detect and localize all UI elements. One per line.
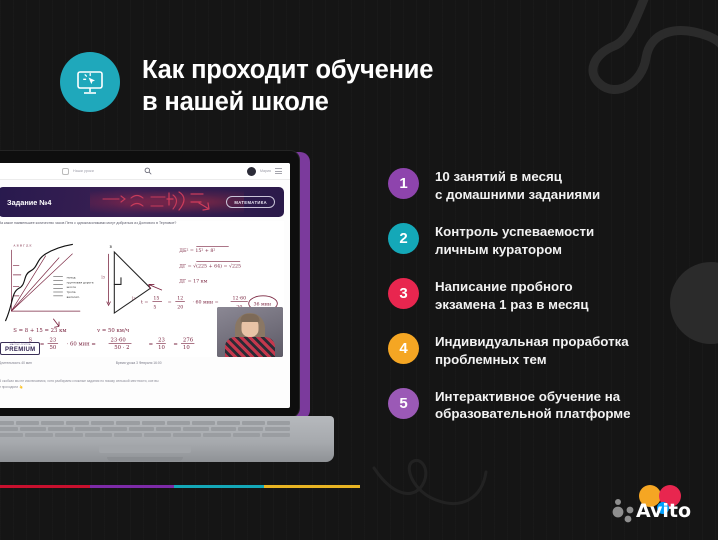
feature-list: 1 10 занятий в месяц с домашними задания… <box>388 166 688 423</box>
svg-text:поезд: поезд <box>67 276 76 280</box>
svg-text:=: = <box>149 341 153 347</box>
app-brand-label: Наши уроки <box>73 169 94 173</box>
hamburger-menu-icon[interactable] <box>275 168 282 173</box>
list-item-badge-1: 1 <box>388 168 419 199</box>
laptop-lid: Наши уроки Мария <box>0 150 300 418</box>
svg-text:=: = <box>40 341 44 347</box>
svg-text:23: 23 <box>49 338 56 344</box>
lesson-comment: В скобках мы не исключаемся, хотя разбир… <box>0 379 283 390</box>
svg-text:S = 8 + 15 = 23 км: S = 8 + 15 = 23 км <box>13 328 66 334</box>
lesson-title: Задание №4 <box>7 198 52 207</box>
app-user-area[interactable]: Мария <box>247 167 282 176</box>
laptop-trackpad <box>99 445 191 453</box>
app-logo-icon <box>62 168 69 175</box>
svg-text:23: 23 <box>158 338 165 344</box>
list-item: 4 Индивидуальная проработка проблемных т… <box>388 331 688 369</box>
list-item: 1 10 занятий в месяц с домашними задания… <box>388 166 688 204</box>
list-item: 3 Написание пробного экзамена 1 раз в ме… <box>388 276 688 314</box>
subject-badge: МАТЕМАТИКА <box>226 196 275 208</box>
svg-text:· 60 мин =: · 60 мин = <box>192 299 218 305</box>
premium-badge: МАСТЕР-ГРУППА PREMIUM <box>0 342 40 355</box>
list-item-text-2: Контроль успеваемости личным куратором <box>435 221 594 259</box>
tutor-fringe <box>241 314 260 322</box>
list-item-badge-4: 4 <box>388 333 419 364</box>
list-item: 2 Контроль успеваемости личным куратором <box>388 221 688 259</box>
squiggle-loop-icon <box>584 0 718 112</box>
lesson-time: Время урока 3 Февраля 16:00 <box>116 361 162 365</box>
squiggle-loop-icon <box>370 442 500 512</box>
strip-segment-3 <box>174 485 264 488</box>
svg-text:А Б В Г Д Е: А Б В Г Д Е <box>13 243 31 247</box>
header: Как проходит обучение в нашей школе <box>60 52 433 118</box>
strip-segment-1 <box>0 485 90 488</box>
svg-text:15: 15 <box>101 276 105 280</box>
svg-text:=: = <box>173 341 177 347</box>
list-item-text-5: Интерактивное обучение на образовательно… <box>435 386 631 424</box>
laptop-base-notch <box>107 457 183 461</box>
app-topbar: Наши уроки Мария <box>0 163 290 180</box>
tutor-body <box>225 337 275 357</box>
list-item-text-1: 10 занятий в месяц с домашними заданиями <box>435 166 600 204</box>
list-item-text-4: Индивидуальная проработка проблемных тем <box>435 331 629 369</box>
svg-text:20: 20 <box>177 304 183 310</box>
color-strip <box>0 485 360 488</box>
svg-text:ДГ = √(225 + 64) = √225: ДГ = √(225 + 64) = √225 <box>179 262 241 269</box>
search-icon[interactable] <box>144 163 152 180</box>
avatar[interactable] <box>247 167 256 176</box>
svg-text:шоссе: шоссе <box>67 285 77 289</box>
svg-text:23·60: 23·60 <box>110 338 126 344</box>
svg-text:5: 5 <box>153 304 156 310</box>
slide-canvas: Как проходит обучение в нашей школе 1 10… <box>0 0 718 540</box>
list-item-badge-5: 5 <box>388 388 419 419</box>
svg-text:12: 12 <box>177 296 183 302</box>
svg-text:тропа: тропа <box>67 290 76 294</box>
user-label: Мария <box>260 169 271 173</box>
svg-text:=: = <box>168 300 172 305</box>
svg-text:грунтовая дорога: грунтовая дорога <box>67 280 94 284</box>
svg-text:t =: t = <box>141 299 148 305</box>
avito-wordmark: Avito <box>636 500 691 522</box>
list-item-badge-2: 2 <box>388 223 419 254</box>
svg-text:50 · 2: 50 · 2 <box>114 345 129 351</box>
list-item-badge-3: 3 <box>388 278 419 309</box>
whiteboard: За какое наименьшее количество часов Пет… <box>0 221 284 357</box>
strip-segment-4 <box>264 485 360 488</box>
svg-text:50: 50 <box>49 345 56 351</box>
svg-text:велосип.: велосип. <box>67 295 80 299</box>
svg-text:· 60 мин =: · 60 мин = <box>67 341 96 347</box>
lesson-banner: Задание №4 МАТЕМАТИКА <box>0 187 284 217</box>
laptop-base <box>0 416 334 462</box>
svg-text:10: 10 <box>158 345 165 351</box>
svg-text:ДБ² = 15² + 8²: ДБ² = 15² + 8² <box>179 248 215 254</box>
svg-text:10: 10 <box>183 345 190 351</box>
svg-text:В: В <box>110 245 113 249</box>
monitor-cursor-icon <box>60 52 120 112</box>
svg-text:15: 15 <box>153 296 159 302</box>
svg-text:12·60: 12·60 <box>233 296 247 302</box>
strip-segment-2 <box>90 485 174 488</box>
list-item: 5 Интерактивное обучение на образователь… <box>388 386 688 424</box>
task-text: За какое наименьшее количество часов Пет… <box>0 221 284 229</box>
page-title: Как проходит обучение в нашей школе <box>142 52 433 118</box>
app-brand: Наши уроки <box>62 168 94 175</box>
svg-text:276: 276 <box>183 338 194 344</box>
laptop-keyboard <box>0 421 290 443</box>
list-item-text-3: Написание пробного экзамена 1 раз в меся… <box>435 276 589 314</box>
svg-text:ДГ = 17 км: ДГ = 17 км <box>179 279 208 285</box>
avito-logo: Avito <box>606 484 702 526</box>
lesson-duration: Длительность 40 мин <box>0 361 32 365</box>
svg-text:v = 50 км/ч: v = 50 км/ч <box>96 328 130 334</box>
svg-text:12: 12 <box>131 297 135 301</box>
laptop-mockup: Наши уроки Мария <box>0 150 330 450</box>
lesson-meta: Длительность 40 мин Время урока 3 Феврал… <box>0 361 283 365</box>
laptop-screen: Наши уроки Мария <box>0 163 290 408</box>
video-tile-tutor[interactable] <box>217 307 283 357</box>
